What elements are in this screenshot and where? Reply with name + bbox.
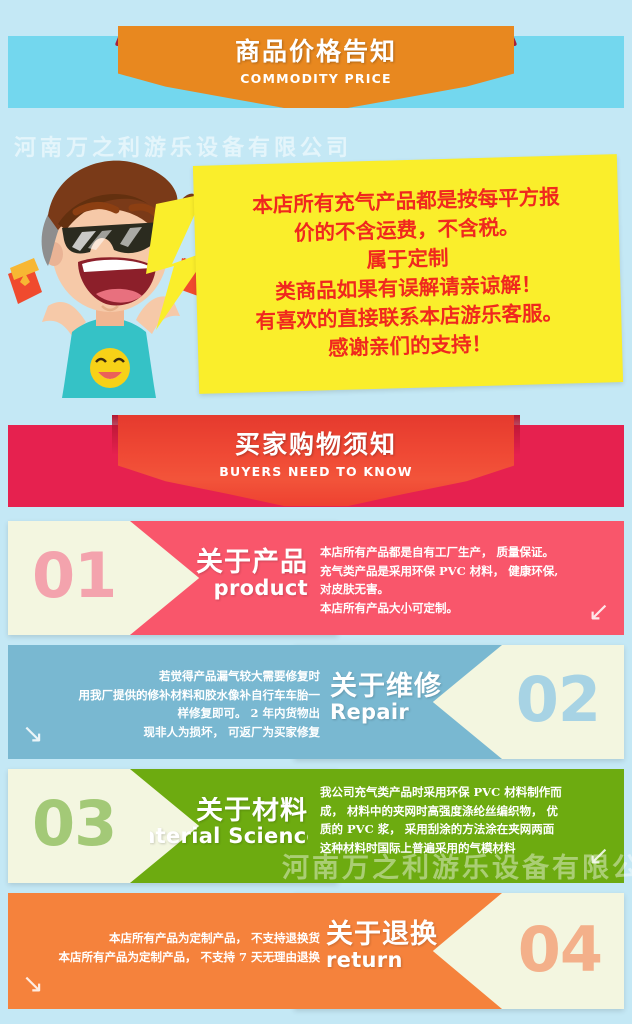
section-01-title: 关于产品 product xyxy=(168,549,308,599)
section-04: 04 关于退换 return 本店所有产品为定制产品， 不支持退换货 本店所有产… xyxy=(0,893,632,1013)
section-04-number: 04 xyxy=(518,919,602,981)
mascot-svg xyxy=(6,146,211,398)
banner1-text: 商品价格告知 COMMODITY PRICE xyxy=(118,26,514,108)
banner2-title-cn: 买家购物须知 xyxy=(235,425,397,461)
section-01-body-line-3: 对皮肤无害。 xyxy=(320,580,558,599)
section-01-body-line-4: 本店所有产品大小可定制。 xyxy=(320,599,558,618)
banner2-text: 买家购物须知 BUYERS NEED TO KNOW xyxy=(118,425,514,507)
section-04-title-en: return xyxy=(326,949,476,971)
section-04-title: 关于退换 return xyxy=(326,921,476,971)
note-line-3: 属于定制 xyxy=(366,244,449,275)
section-01-body: 本店所有产品都是自有工厂生产， 质量保证。 充气类产品是采用环保 PVC 材料，… xyxy=(320,543,558,618)
banner1-title-en: COMMODITY PRICE xyxy=(240,71,391,86)
section-01-body-line-1: 本店所有产品都是自有工厂生产， 质量保证。 xyxy=(320,543,558,562)
section-02-body: 若觉得产品漏气较大需要修复时 用我厂提供的修补材料和胶水像补自行车车胎一 样修复… xyxy=(20,667,320,742)
section-02-arrow-icon: ↘ xyxy=(22,721,44,747)
section-03-number: 03 xyxy=(32,793,116,855)
note-line-6: 感谢亲们的支持！ xyxy=(328,330,493,364)
buyers-need-to-know-banner: 买家购物须知 BUYERS NEED TO KNOW xyxy=(0,415,632,507)
section-03-title: 关于材料 Material Science xyxy=(150,797,308,847)
mascot-illustration xyxy=(6,146,211,398)
section-03-body-line-3: 质的 PVC 浆， 采用刮涂的方法涂在夹网两面 xyxy=(320,820,562,839)
product-info-graphic: 商品价格告知 COMMODITY PRICE 河南万之利游乐设备有限公司 xyxy=(0,0,632,1024)
smiley-badge-icon xyxy=(90,348,130,388)
section-02-body-line-4: 现非人为损坏， 可返厂为买家修复 xyxy=(20,723,320,742)
section-04-title-cn: 关于退换 xyxy=(326,921,476,949)
section-01-title-cn: 关于产品 xyxy=(168,549,308,577)
section-02-body-line-3: 样修复即可。 2 年内货物出 xyxy=(20,704,320,723)
section-04-body-line-2: 本店所有产品为定制产品， 不支持 7 天无理由退换 xyxy=(14,948,320,967)
section-01: 01 关于产品 product 本店所有产品都是自有工厂生产， 质量保证。 充气… xyxy=(0,521,632,639)
banner1-ribbon-wrap: 商品价格告知 COMMODITY PRICE xyxy=(0,8,632,108)
section-01-body-line-2: 充气类产品是采用环保 PVC 材料， 健康环保, xyxy=(320,562,558,581)
section-02-title: 关于维修 Repair xyxy=(330,673,480,723)
section-02: 02 关于维修 Repair 若觉得产品漏气较大需要修复时 用我厂提供的修补材料… xyxy=(0,645,632,763)
gift-left-icon xyxy=(8,258,42,304)
section-03-title-cn: 关于材料 xyxy=(150,797,308,825)
section-04-body: 本店所有产品为定制产品， 不支持退换货 本店所有产品为定制产品， 不支持 7 天… xyxy=(14,929,320,966)
commodity-price-banner: 商品价格告知 COMMODITY PRICE xyxy=(0,8,632,108)
section-01-title-en: product xyxy=(168,577,308,599)
section-02-number: 02 xyxy=(516,669,600,731)
section-01-number: 01 xyxy=(32,545,116,607)
hero-section: 河南万之利游乐设备有限公司 xyxy=(0,108,632,408)
section-02-title-en: Repair xyxy=(330,701,480,723)
section-03-body-line-1: 我公司充气类产品时采用环保 PVC 材料制作而 xyxy=(320,783,562,802)
section-03-body-line-2: 成， 材料中的夹网时高强度涤纶丝编织物， 优 xyxy=(320,802,562,821)
section-02-body-line-1: 若觉得产品漏气较大需要修复时 xyxy=(20,667,320,686)
yellow-note-text: 本店所有充气产品都是按每平方报 价的不含运费，不含税。 属于定制 类商品如果有误… xyxy=(193,154,623,394)
section-02-body-line-2: 用我厂提供的修补材料和胶水像补自行车车胎一 xyxy=(20,686,320,705)
section-04-arrow-icon: ↘ xyxy=(22,971,44,997)
section-02-title-cn: 关于维修 xyxy=(330,673,480,701)
watermark-green: 河南万之利游乐设备有限公司 xyxy=(282,846,632,885)
note-line-2: 价的不含运费，不含税。 xyxy=(294,213,520,248)
banner2-title-en: BUYERS NEED TO KNOW xyxy=(219,464,412,479)
section-04-body-line-1: 本店所有产品为定制产品， 不支持退换货 xyxy=(14,929,320,948)
section-03-title-en: Material Science xyxy=(150,825,308,847)
banner1-title-cn: 商品价格告知 xyxy=(235,32,397,68)
section-01-arrow-icon: ↙ xyxy=(588,599,610,625)
